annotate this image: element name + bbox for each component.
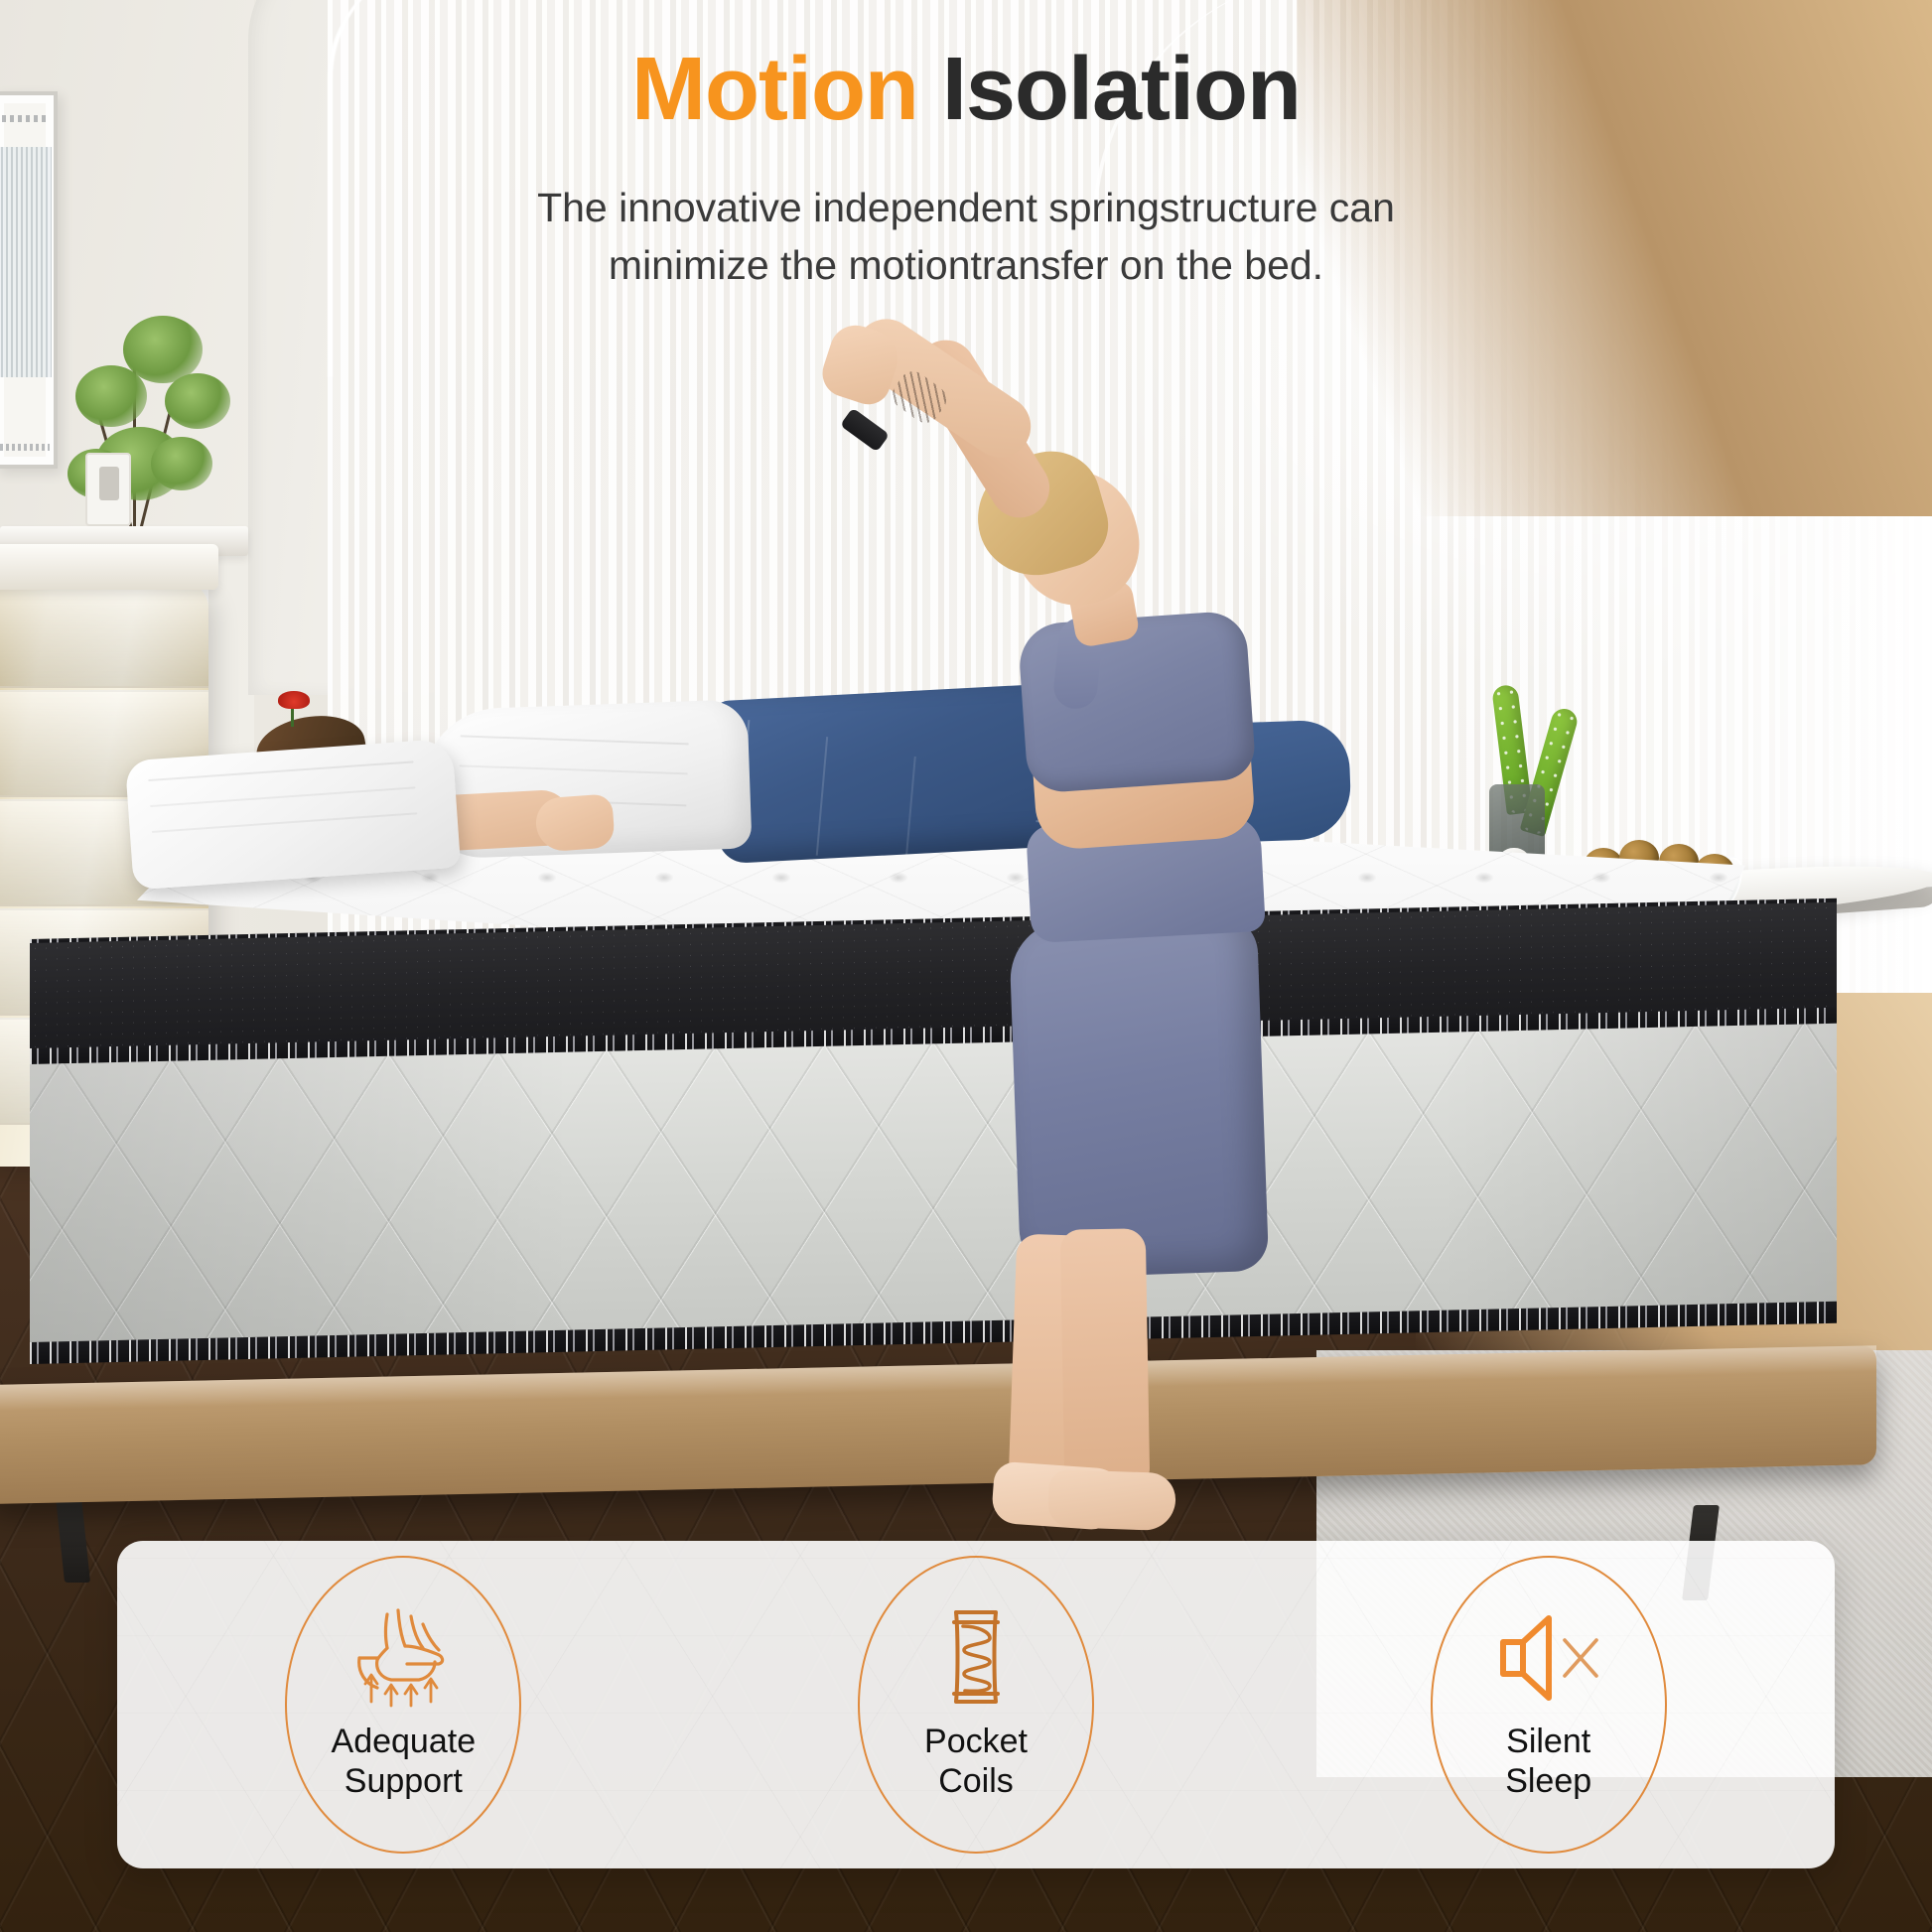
feature-pocket-coils[interactable]: Pocket Coils	[690, 1541, 1263, 1868]
feature-label-line-1: Silent	[1505, 1722, 1591, 1761]
plant-leaves	[151, 437, 212, 490]
headboard-top-trim	[0, 544, 218, 590]
woman-shin	[1060, 1228, 1150, 1483]
tshirt-folds	[461, 735, 689, 745]
hand-press-support-icon	[344, 1602, 463, 1712]
headline-accent-word: Motion	[631, 40, 918, 139]
feature-label-line-2: Support	[332, 1761, 477, 1801]
muted-speaker-icon	[1489, 1602, 1608, 1712]
pillow-folds	[148, 760, 413, 781]
wall-outlet	[85, 453, 131, 526]
man-hand	[534, 793, 616, 852]
feature-circle: Pocket Coils	[858, 1556, 1094, 1854]
feature-silent-sleep[interactable]: Silent Sleep	[1262, 1541, 1835, 1868]
page-subtitle: The innovative independent springstructu…	[0, 179, 1932, 294]
feature-panel: Adequate Support Pocket Coils	[117, 1541, 1835, 1868]
subtitle-line-1: The innovative independent springstructu…	[0, 179, 1932, 236]
feature-label: Pocket Coils	[924, 1722, 1028, 1801]
headline-rest-word: Isolation	[942, 40, 1301, 139]
mattress-shading	[30, 1024, 1837, 1350]
stretching-woman	[953, 338, 1370, 1291]
feature-label-line-1: Adequate	[332, 1722, 477, 1761]
red-flower	[278, 691, 312, 721]
feature-label: Silent Sleep	[1505, 1722, 1591, 1801]
plant-leaves	[165, 373, 230, 429]
art-caption-text	[0, 444, 50, 451]
subtitle-line-2: minimize the motiontransfer on the bed.	[0, 236, 1932, 294]
headboard-channel	[0, 581, 208, 688]
feature-label-line-1: Pocket	[924, 1722, 1028, 1761]
product-marketing-image: Motion Isolation The innovative independ…	[0, 0, 1932, 1932]
hybrid-mattress	[30, 953, 1837, 1420]
white-pillow	[125, 739, 461, 891]
pocket-coil-spring-icon	[916, 1602, 1035, 1712]
feature-label-line-2: Sleep	[1505, 1761, 1591, 1801]
feature-label: Adequate Support	[332, 1722, 477, 1801]
feature-circle: Adequate Support	[285, 1556, 521, 1854]
woman-foot	[1047, 1469, 1176, 1531]
feature-circle: Silent Sleep	[1431, 1556, 1667, 1854]
feature-adequate-support[interactable]: Adequate Support	[117, 1541, 690, 1868]
woman-legs	[1009, 913, 1269, 1280]
feature-label-line-2: Coils	[924, 1761, 1028, 1801]
page-title: Motion Isolation	[0, 42, 1932, 138]
woman-sports-bra	[1017, 610, 1256, 794]
